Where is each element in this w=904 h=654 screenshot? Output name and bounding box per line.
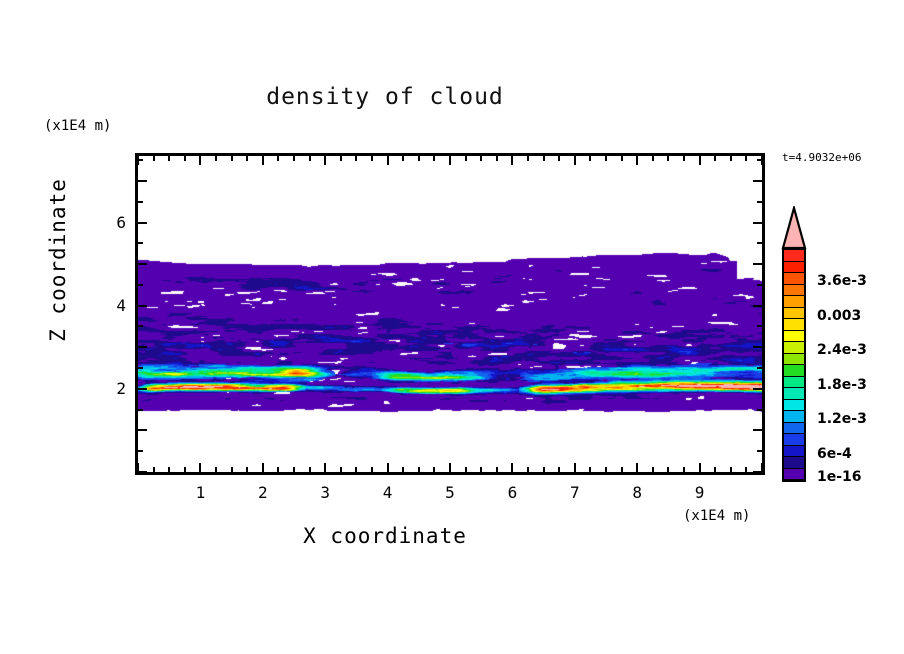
x-axis-tick-top: [184, 156, 186, 161]
x-axis-tick-top: [355, 156, 357, 161]
x-axis-tick-top: [558, 156, 560, 161]
colorbar-overflow-arrow-icon: [781, 206, 807, 250]
x-axis-tick: [699, 463, 701, 472]
colorbar: 3.6e-30.0032.4e-31.8e-31.2e-36e-41e-16: [781, 206, 901, 486]
x-axis-tick-top: [402, 156, 404, 161]
x-axis-tick-top: [231, 156, 233, 161]
x-axis-tick: [449, 463, 451, 472]
x-axis-tick-top: [652, 156, 654, 161]
x-axis-tick-top: [262, 156, 264, 165]
y-axis-tick-right: [753, 429, 762, 431]
colorbar-band: [784, 342, 804, 354]
x-axis-tick-top: [589, 156, 591, 161]
y-axis-tick-right: [753, 305, 762, 307]
x-axis-tick: [402, 467, 404, 472]
colorbar-ticklabel: 3.6e-3: [817, 273, 867, 289]
y-axis-tick-right: [757, 201, 762, 203]
y-axis-tick: [138, 367, 143, 369]
x-axis-tick-top: [714, 156, 716, 161]
y-axis-ticklabel: 2: [86, 379, 126, 398]
x-axis-tick: [745, 467, 747, 472]
y-axis-tick-right: [753, 222, 762, 224]
colorbar-ticklabel: 1e-16: [817, 469, 862, 485]
x-axis-tick: [574, 463, 576, 472]
x-axis-ticklabel: 7: [555, 483, 595, 502]
y-axis-tick: [138, 325, 143, 327]
x-axis-tick: [480, 467, 482, 472]
x-axis-tick: [433, 467, 435, 472]
x-axis-tick-top: [465, 156, 467, 161]
x-axis-tick: [636, 463, 638, 472]
y-axis-tick: [138, 159, 143, 161]
colorbar-band: [784, 377, 804, 389]
x-axis-tick-top: [215, 156, 217, 161]
x-axis-tick-top: [667, 156, 669, 161]
y-axis-tick: [138, 263, 147, 265]
colorbar-ticklabel: 1.8e-3: [817, 377, 867, 393]
colorbar-band: [784, 285, 804, 297]
x-axis-tick-top: [527, 156, 529, 161]
y-axis-ticklabel: 4: [86, 296, 126, 315]
x-axis-tick-top: [293, 156, 295, 161]
x-axis-ticklabel: 5: [430, 483, 470, 502]
colorbar-band: [784, 457, 804, 469]
x-axis-tick-top: [246, 156, 248, 161]
x-axis-tick: [387, 463, 389, 472]
x-axis-tick: [371, 467, 373, 472]
x-axis-tick: [231, 467, 233, 472]
colorbar-band: [784, 469, 804, 481]
x-axis-ticklabel: 2: [243, 483, 283, 502]
colorbar-band: [784, 250, 804, 262]
x-axis-tick-top: [387, 156, 389, 165]
colorbar-band: [784, 308, 804, 320]
x-axis-tick-top: [730, 156, 732, 161]
x-axis-tick: [324, 463, 326, 472]
x-axis-tick-top: [574, 156, 576, 165]
y-axis-tick: [138, 284, 143, 286]
x-axis-tick: [277, 467, 279, 472]
x-axis-tick: [558, 467, 560, 472]
x-axis-tick-top: [433, 156, 435, 161]
x-axis-tick-top: [449, 156, 451, 165]
colorbar-band: [784, 423, 804, 435]
colorbar-band: [784, 296, 804, 308]
x-axis-ticklabel: 6: [492, 483, 532, 502]
colorbar-ticklabel: 1.2e-3: [817, 411, 867, 427]
x-axis-tick-top: [745, 156, 747, 161]
x-axis-tick-top: [371, 156, 373, 161]
x-axis-tick: [262, 463, 264, 472]
x-axis-tick: [652, 467, 654, 472]
x-axis-title: X coordinate: [0, 524, 770, 548]
y-axis-tick: [138, 305, 147, 307]
x-axis-tick: [309, 467, 311, 472]
y-axis-tick-right: [753, 388, 762, 390]
x-axis-ticklabel: 9: [680, 483, 720, 502]
x-axis-tick-top: [636, 156, 638, 165]
y-axis-unit-label: (x1E4 m): [44, 118, 111, 134]
x-axis-tick-top: [605, 156, 607, 161]
x-axis-tick: [730, 467, 732, 472]
colorbar-ticklabel: 0.003: [817, 308, 861, 324]
x-axis-tick: [340, 467, 342, 472]
y-axis-tick-right: [757, 409, 762, 411]
y-axis-tick-right: [753, 180, 762, 182]
x-axis-tick: [184, 467, 186, 472]
colorbar-ticklabel: 2.4e-3: [817, 342, 867, 358]
contour-plot-canvas: [138, 156, 762, 472]
x-axis-ticklabel: 1: [180, 483, 220, 502]
x-axis-tick: [168, 467, 170, 472]
colorbar-band: [784, 354, 804, 366]
y-axis-tick-right: [753, 471, 762, 473]
y-axis-tick: [138, 450, 143, 452]
y-axis-tick: [138, 180, 147, 182]
x-axis-ticklabel: 3: [305, 483, 345, 502]
x-axis-tick: [667, 467, 669, 472]
x-axis-tick: [465, 467, 467, 472]
x-axis-tick: [293, 467, 295, 472]
y-axis-tick: [138, 222, 147, 224]
plot-frame: [135, 153, 765, 475]
y-axis-tick: [138, 409, 143, 411]
page-title: density of cloud: [0, 84, 770, 110]
x-axis-tick-top: [699, 156, 701, 165]
y-axis-tick: [138, 429, 147, 431]
x-axis-tick: [199, 463, 201, 472]
y-axis-tick-right: [757, 242, 762, 244]
x-axis-tick-top: [324, 156, 326, 165]
x-axis-tick: [215, 467, 217, 472]
x-axis-tick-top: [199, 156, 201, 165]
y-axis-tick: [138, 242, 143, 244]
x-axis-tick-top: [309, 156, 311, 161]
x-axis-tick-top: [480, 156, 482, 161]
x-axis-tick: [511, 463, 513, 472]
colorbar-band: [784, 388, 804, 400]
y-axis-tick: [138, 471, 147, 473]
x-axis-tick-top: [340, 156, 342, 161]
colorbar-band: [784, 365, 804, 377]
y-axis-tick-right: [757, 159, 762, 161]
x-axis-tick: [714, 467, 716, 472]
y-axis-ticklabel: 6: [86, 213, 126, 232]
x-axis-tick: [246, 467, 248, 472]
x-axis-tick-top: [543, 156, 545, 161]
colorbar-band: [784, 446, 804, 458]
y-axis-tick-right: [757, 367, 762, 369]
colorbar-band: [784, 319, 804, 331]
colorbar-ticklabel: 6e-4: [817, 446, 852, 462]
time-annotation: t=4.9032e+06: [782, 151, 861, 164]
y-axis-tick-right: [757, 284, 762, 286]
x-axis-tick: [527, 467, 529, 472]
x-axis-tick-top: [168, 156, 170, 161]
x-axis-tick-top: [621, 156, 623, 161]
colorbar-band: [784, 262, 804, 274]
colorbar-band: [784, 411, 804, 423]
x-axis-tick: [589, 467, 591, 472]
y-axis-tick-right: [757, 325, 762, 327]
x-axis-ticklabel: 4: [368, 483, 408, 502]
y-axis-tick-right: [753, 263, 762, 265]
x-axis-tick-top: [418, 156, 420, 161]
colorbar-bands: [782, 248, 806, 482]
x-axis-tick: [496, 467, 498, 472]
y-axis-title: Z coordinate: [46, 160, 70, 360]
y-axis-tick: [138, 346, 147, 348]
colorbar-band: [784, 400, 804, 412]
x-axis-tick: [418, 467, 420, 472]
x-axis-tick-top: [496, 156, 498, 161]
x-axis-tick-top: [511, 156, 513, 165]
x-axis-tick-top: [153, 156, 155, 161]
x-axis-ticklabel: 8: [617, 483, 657, 502]
x-axis-unit-label: (x1E4 m): [683, 508, 750, 524]
x-axis-tick: [543, 467, 545, 472]
x-axis-tick: [683, 467, 685, 472]
y-axis-tick: [138, 201, 143, 203]
x-axis-tick: [355, 467, 357, 472]
y-axis-tick-right: [757, 450, 762, 452]
colorbar-band: [784, 331, 804, 343]
x-axis-tick: [605, 467, 607, 472]
colorbar-band: [784, 273, 804, 285]
x-axis-tick: [621, 467, 623, 472]
x-axis-tick: [153, 467, 155, 472]
y-axis-tick-right: [753, 346, 762, 348]
colorbar-band: [784, 434, 804, 446]
y-axis-tick: [138, 388, 147, 390]
x-axis-tick-top: [277, 156, 279, 161]
x-axis-tick-top: [683, 156, 685, 161]
